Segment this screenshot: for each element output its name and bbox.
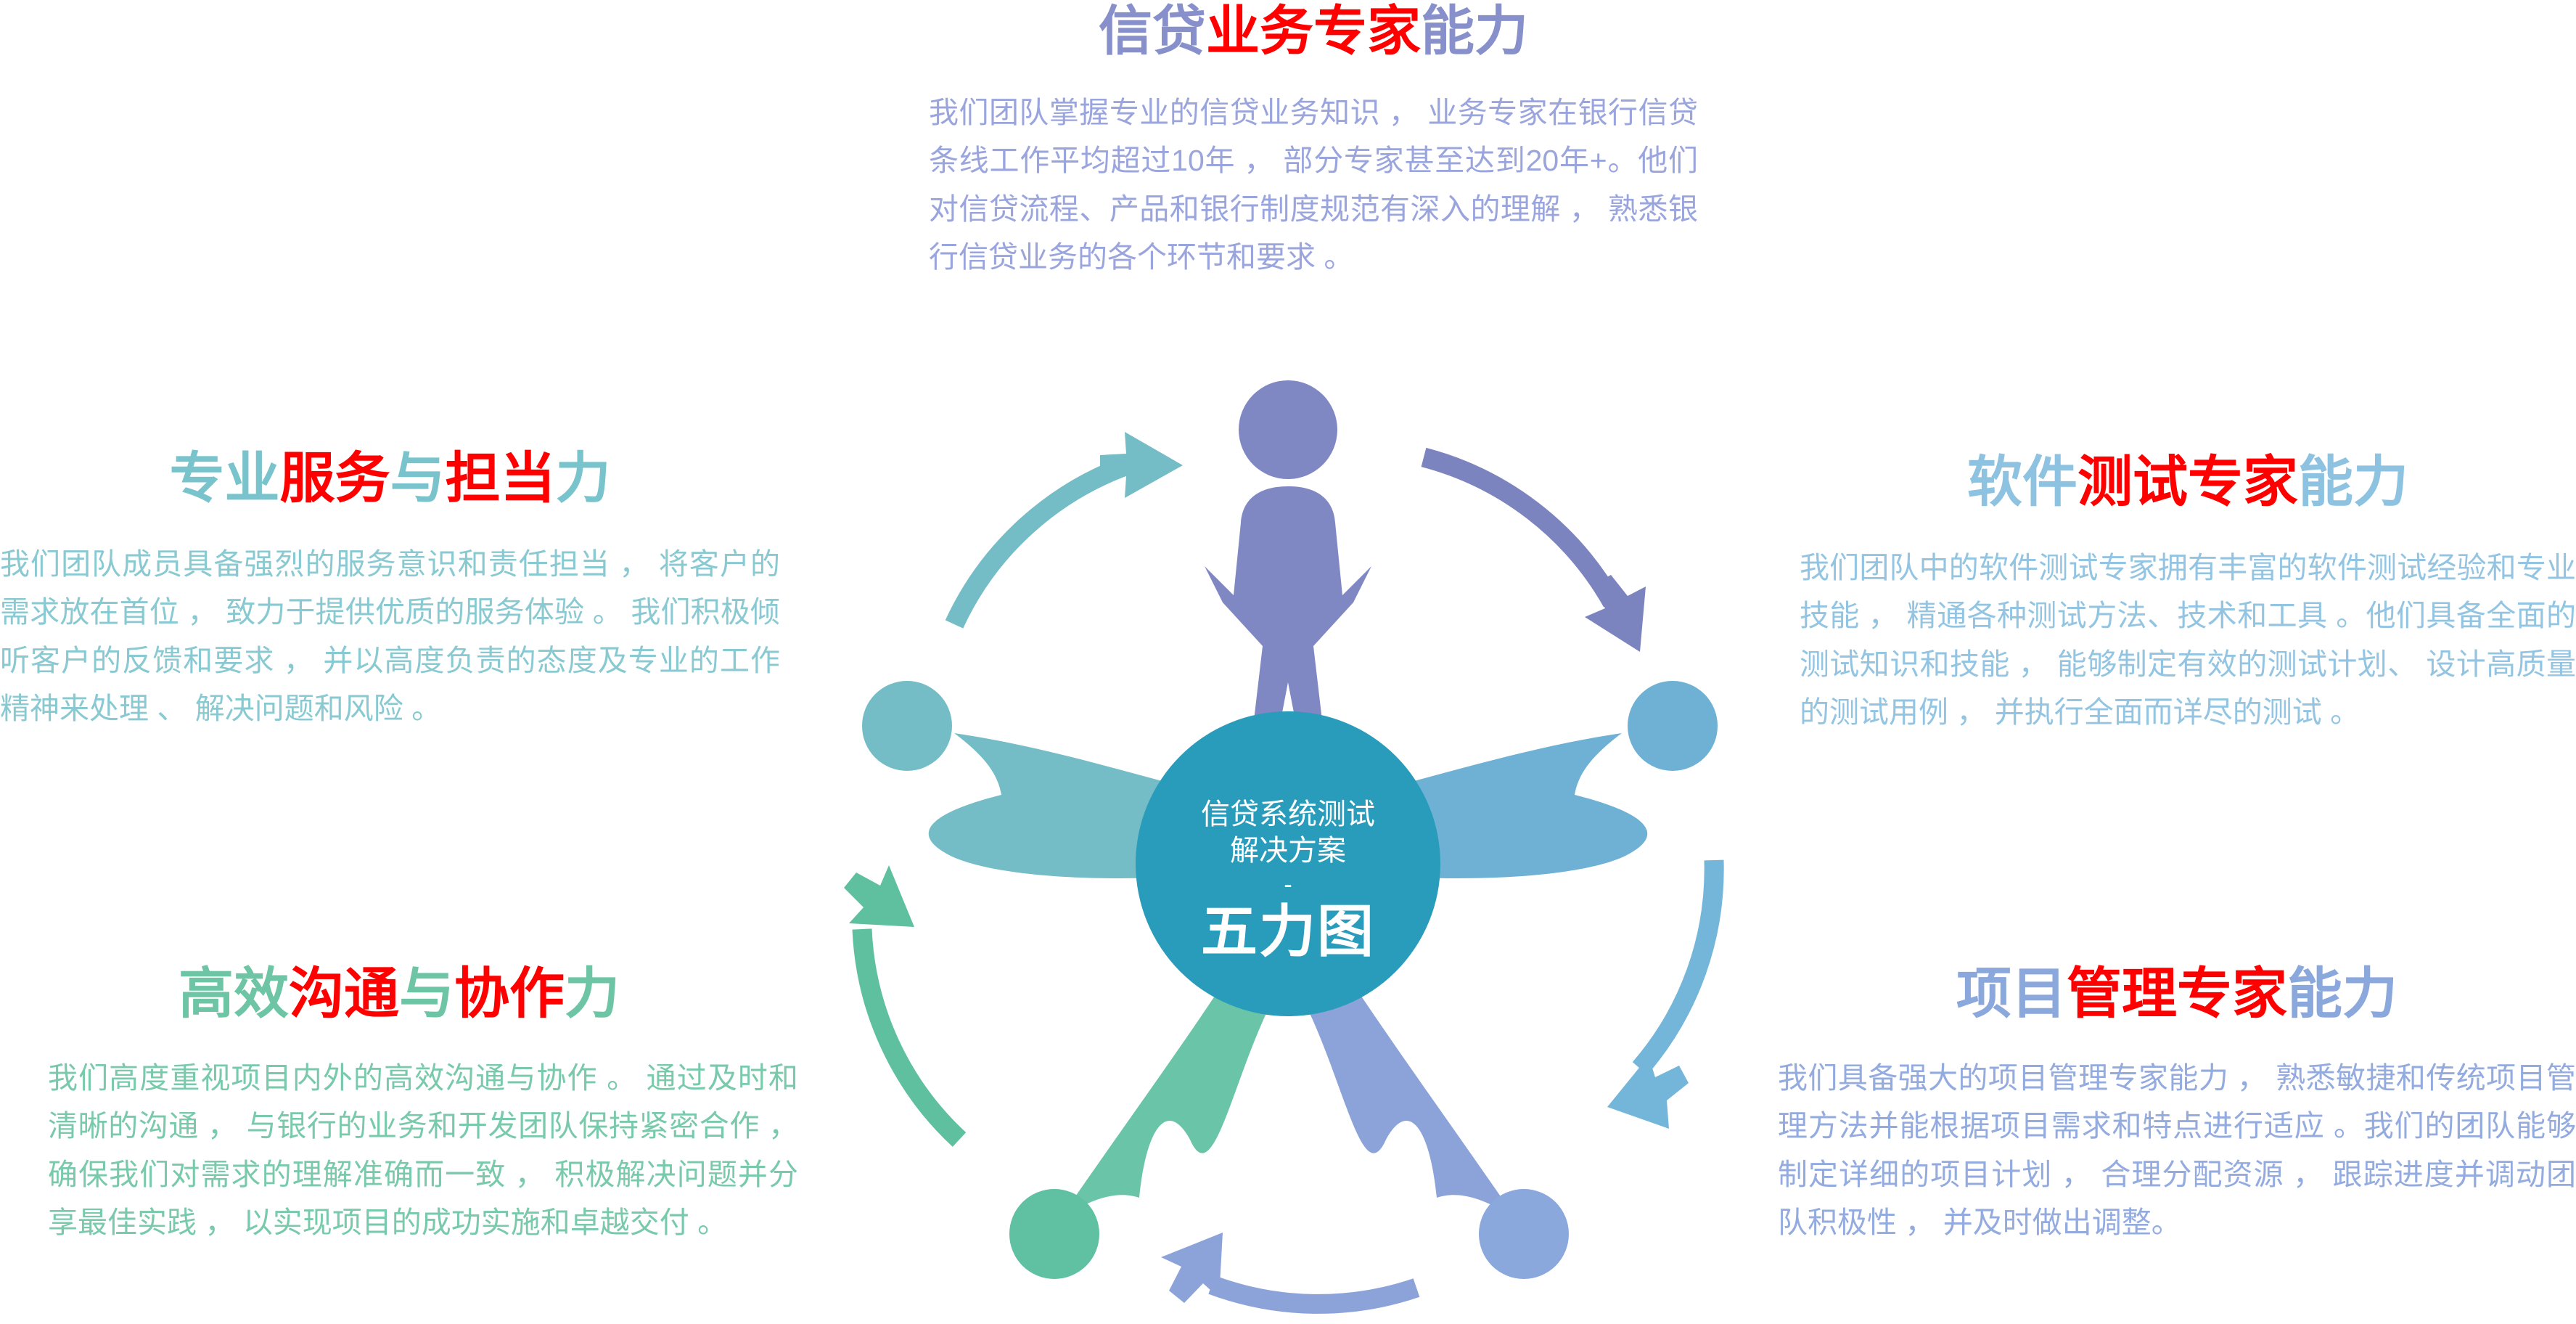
cycle-arrow-bottom-left-to-left (844, 865, 959, 1140)
section-pm-heading: 项目管理专家能力 (1778, 965, 2576, 1023)
section-credit-body: 我们团队掌握专业的信贷业务知识 ， 业务专家在银行信贷条线工作平均超过10年 ，… (929, 89, 1698, 282)
heading-run-2: 能力 (2287, 963, 2397, 1025)
section-qa-heading: 软件测试专家能力 (1800, 454, 2576, 512)
heading-run-0: 软件 (1967, 451, 2077, 513)
section-pm-expertise: 项目管理专家能力 我们具备强大的项目管理专家能力 ， 熟悉敏捷和传统项目管理方法… (1778, 965, 2576, 1246)
node-left-circle (862, 681, 952, 771)
section-qa-body: 我们团队中的软件测试专家拥有丰富的软件测试经验和专业技能 ， 精通各种测试方法、… (1800, 544, 2576, 737)
heading-run-1: 管理专家 (2067, 963, 2287, 1025)
infographic-canvas: 信贷业务专家能力 我们团队掌握专业的信贷业务知识 ， 业务专家在银行信贷条线工作… (0, 0, 2576, 1324)
five-force-diagram: 信贷系统测试 解决方案 - 五力图 (798, 377, 1778, 1321)
heading-run-1: 测试专家 (2077, 451, 2298, 513)
heading-run-0: 信贷 (1099, 1, 1206, 61)
section-service-body: 我们团队成员具备强烈的服务意识和责任担当 ， 将客户的需求放在首位 ， 致力于提… (0, 540, 780, 733)
heading-run-1: 服务 (280, 448, 390, 510)
heading-run-3: 担当 (446, 448, 556, 510)
node-bottom-right-circle (1479, 1189, 1569, 1279)
cycle-arrow-right-to-bottom-right (1607, 860, 1714, 1129)
node-bottom-left-circle (1009, 1189, 1099, 1279)
heading-run-2: 能力 (2298, 451, 2408, 513)
node-right-circle (1628, 681, 1718, 771)
heading-run-0: 项目 (1956, 963, 2067, 1025)
heading-run-0: 高效 (179, 963, 289, 1025)
section-communication-heading: 高效沟通与协作力 (0, 965, 798, 1023)
center-title: 五力图 (1201, 899, 1375, 963)
heading-run-1: 业务专家 (1206, 1, 1421, 61)
center-line-1: 信贷系统测试 (1201, 798, 1375, 830)
heading-run-0: 专业 (170, 448, 280, 510)
section-credit-heading: 信贷业务专家能力 (929, 3, 1698, 60)
center-line-2: 解决方案 (1230, 835, 1346, 867)
cycle-arrow-bottom-right-to-bottom-left (1161, 1233, 1416, 1304)
section-communication-collaboration: 高效沟通与协作力 我们高度重视项目内外的高效沟通与协作 。 通过及时和清晰的沟通… (0, 965, 798, 1246)
heading-run-4: 力 (565, 963, 620, 1025)
cycle-arrow-left-to-top (954, 432, 1183, 624)
heading-run-2: 与 (390, 448, 446, 510)
cycle-arrow-top-to-right (1424, 457, 1646, 652)
section-pm-body: 我们具备强大的项目管理专家能力 ， 熟悉敏捷和传统项目管理方法并能根据项目需求和… (1778, 1054, 2576, 1247)
section-communication-body: 我们高度重视项目内外的高效沟通与协作 。 通过及时和清晰的沟通 ， 与银行的业务… (0, 1054, 798, 1247)
center-divider: - (1284, 871, 1292, 899)
heading-run-1: 沟通 (289, 963, 399, 1025)
heading-run-4: 力 (556, 448, 611, 510)
section-qa-expertise: 软件测试专家能力 我们团队中的软件测试专家拥有丰富的软件测试经验和专业技能 ， … (1800, 454, 2576, 736)
heading-run-3: 协作 (454, 963, 565, 1025)
section-service-heading: 专业服务与担当力 (0, 450, 780, 508)
section-credit-expertise: 信贷业务专家能力 我们团队掌握专业的信贷业务知识 ， 业务专家在银行信贷条线工作… (929, 3, 1698, 281)
heading-run-2: 与 (399, 963, 454, 1025)
section-service-responsibility: 专业服务与担当力 我们团队成员具备强烈的服务意识和责任担当 ， 将客户的需求放在… (0, 450, 780, 732)
heading-run-2: 能力 (1421, 1, 1528, 61)
